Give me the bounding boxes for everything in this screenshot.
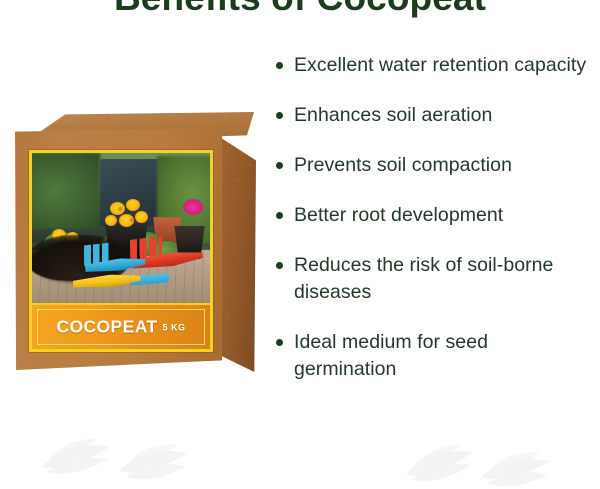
band-text-group: COCOPEAT5 KG bbox=[32, 317, 210, 338]
benefit-text: Ideal medium for seed germination bbox=[294, 329, 592, 383]
benefit-text: Better root development bbox=[294, 202, 592, 229]
product-name: COCOPEAT bbox=[56, 317, 157, 337]
bullet-dot-icon bbox=[276, 112, 283, 119]
bullet-dot-icon bbox=[276, 262, 283, 269]
bullet-dot-icon bbox=[276, 62, 283, 69]
label-photograph bbox=[32, 153, 210, 305]
list-item: Ideal medium for seed germination bbox=[272, 329, 592, 383]
bullet-dot-icon bbox=[276, 162, 283, 169]
product-name-band: COCOPEAT5 KG bbox=[32, 303, 210, 349]
list-item: Enhances soil aeration bbox=[272, 102, 592, 129]
benefit-text: Prevents soil compaction bbox=[294, 152, 592, 179]
product-image: COCOPEAT5 KG bbox=[8, 112, 256, 374]
infographic-page: Benefits of Cocopeat bbox=[0, 0, 600, 489]
yellow-flower-icon bbox=[126, 199, 140, 211]
magenta-flower-icon bbox=[183, 199, 203, 215]
page-title: Benefits of Cocopeat bbox=[0, 0, 600, 22]
product-label: COCOPEAT5 KG bbox=[29, 150, 213, 352]
brick-front-face: COCOPEAT5 KG bbox=[14, 128, 222, 370]
leaf-watermark-icon bbox=[0, 431, 600, 489]
foliage-backdrop-left-icon bbox=[32, 153, 100, 229]
list-item: Better root development bbox=[272, 202, 592, 229]
benefit-text: Enhances soil aeration bbox=[294, 102, 592, 129]
list-item: Reduces the risk of soil-borne diseases bbox=[272, 252, 592, 306]
benefit-text: Reduces the risk of soil-borne diseases bbox=[294, 252, 592, 306]
benefit-text: Excellent water retention capacity bbox=[294, 52, 592, 79]
list-item: Excellent water retention capacity bbox=[272, 52, 592, 79]
yellow-flower-icon bbox=[135, 211, 148, 223]
bullet-dot-icon bbox=[276, 339, 283, 346]
benefits-list: Excellent water retention capacity Enhan… bbox=[272, 52, 592, 383]
list-item: Prevents soil compaction bbox=[272, 152, 592, 179]
product-weight: 5 KG bbox=[163, 323, 186, 333]
bullet-dot-icon bbox=[276, 212, 283, 219]
